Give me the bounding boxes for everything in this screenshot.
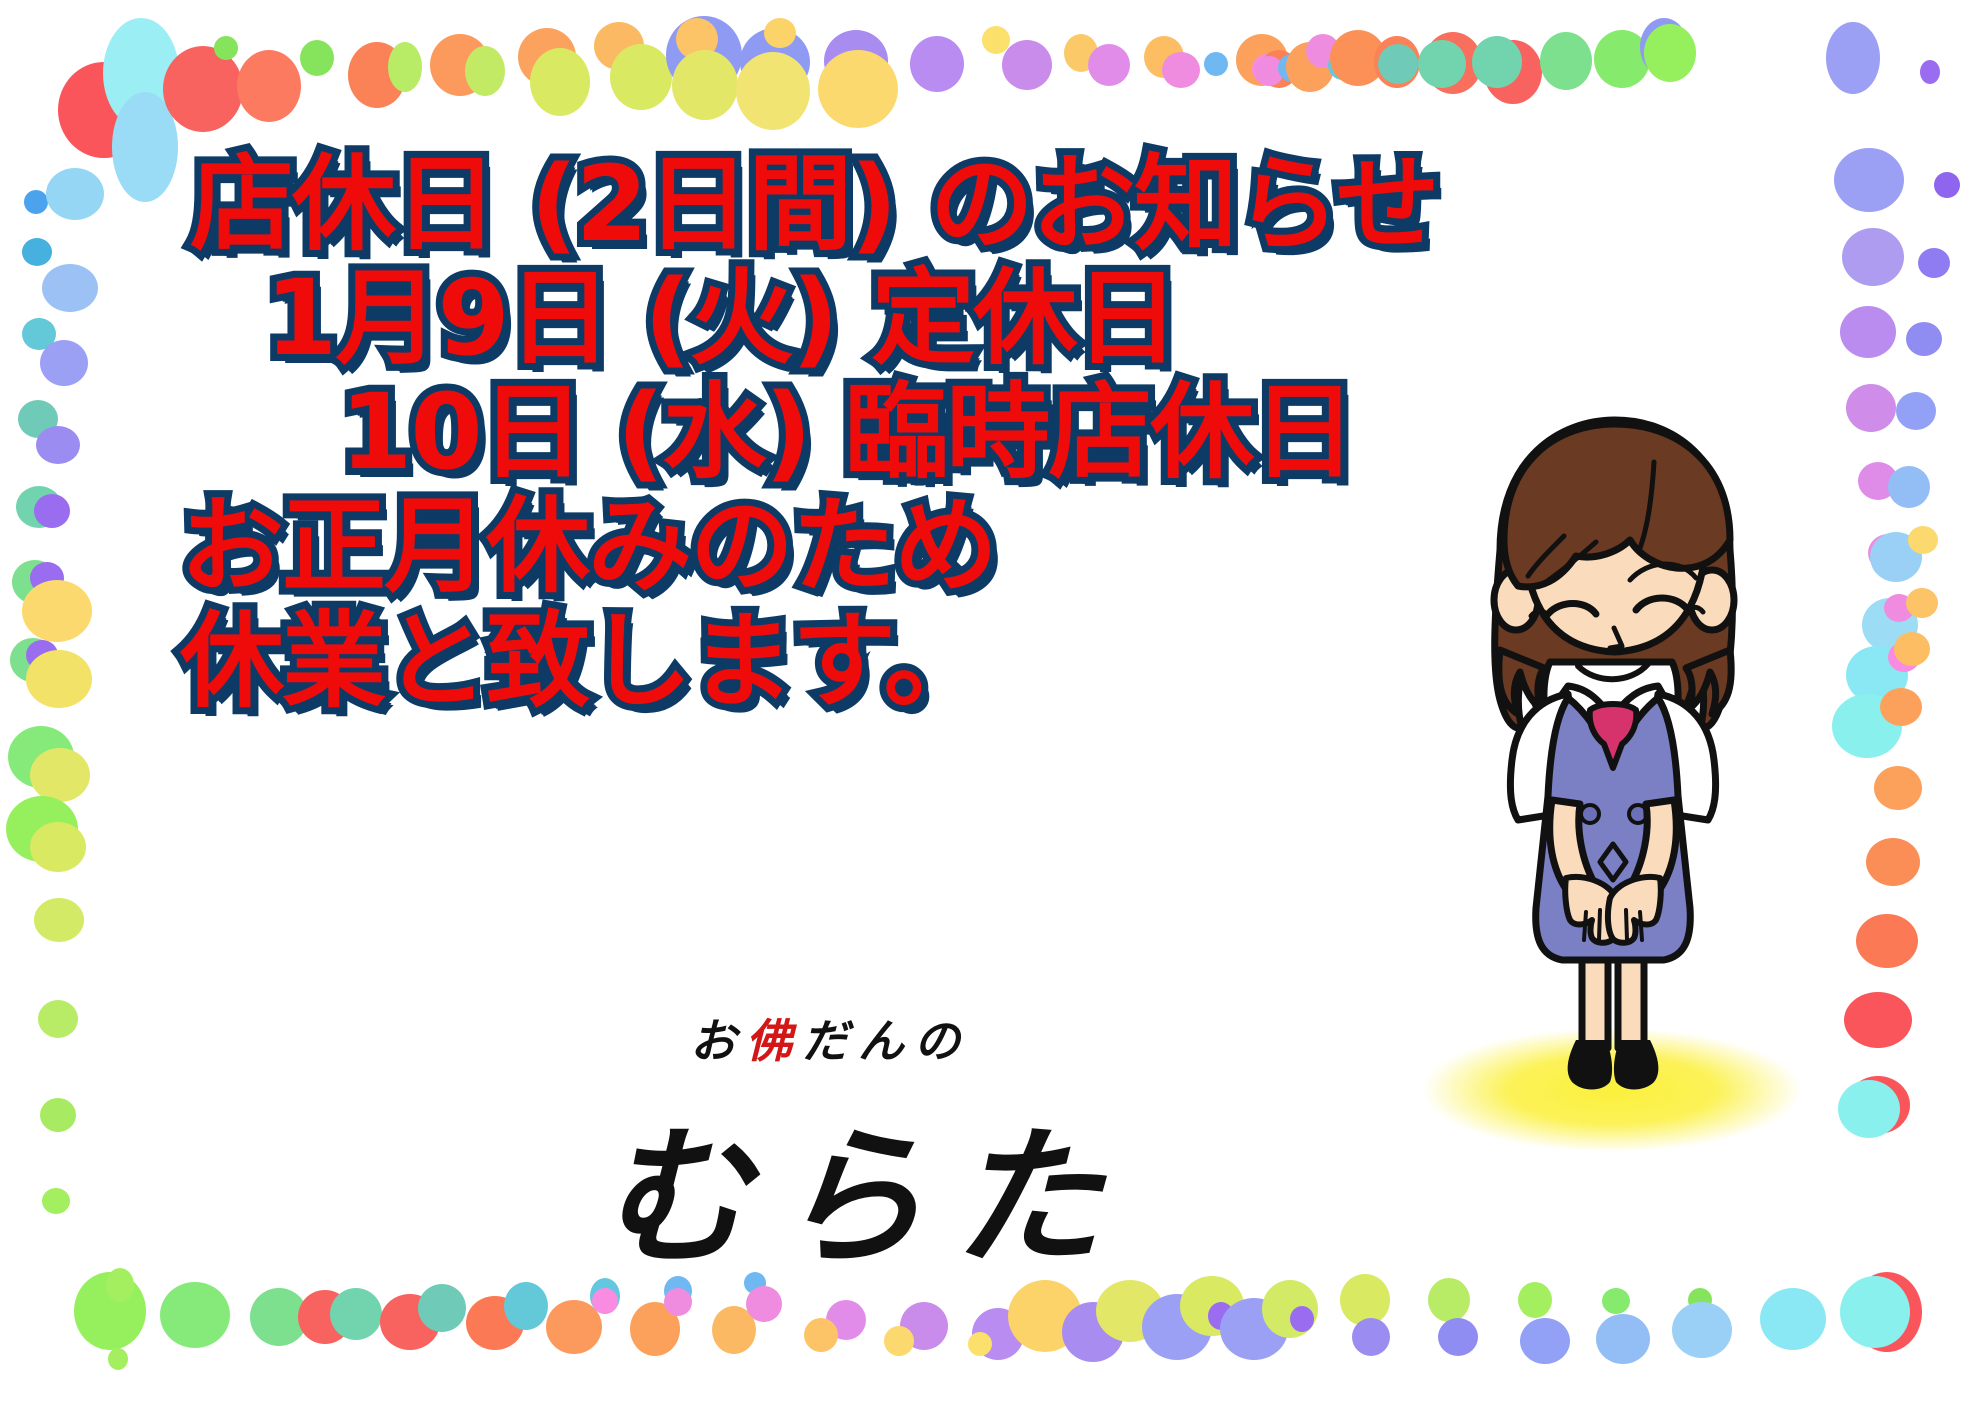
border-dot <box>330 1288 382 1340</box>
border-dot <box>1908 526 1938 554</box>
border-dot <box>34 898 84 942</box>
border-dot <box>1540 32 1592 90</box>
border-dot <box>380 1294 440 1350</box>
border-dot <box>884 1326 914 1356</box>
border-dot <box>1260 50 1298 88</box>
border-dot <box>1640 18 1688 76</box>
notice-poster: 店休日 (2日間) のお知らせ 1月9日 (火) 定休日 10日 (水) 臨時店… <box>0 0 1984 1403</box>
notice-line-5: 休業と致します。 <box>0 607 1430 715</box>
border-dot <box>1888 466 1930 508</box>
shop-logo-name: むらた <box>600 1077 1060 1294</box>
border-dot <box>1378 44 1418 84</box>
border-dot <box>1278 54 1306 82</box>
border-dot <box>465 46 505 96</box>
mouth <box>1578 664 1648 679</box>
border-dot <box>1906 588 1938 618</box>
border-dot <box>214 36 238 60</box>
border-dot <box>1306 34 1340 68</box>
border-dot <box>1352 1318 1390 1356</box>
border-dot <box>910 36 964 92</box>
border-dot <box>1856 914 1918 968</box>
border-dot <box>1896 392 1936 430</box>
border-dot <box>1844 992 1912 1048</box>
shop-logo: お佛だんの むらた <box>600 1005 1060 1294</box>
border-dot <box>518 28 576 86</box>
border-dot <box>1852 1272 1922 1352</box>
border-dot <box>1180 1276 1244 1336</box>
border-dot <box>1868 534 1908 572</box>
border-dot <box>1520 1318 1570 1364</box>
border-dot <box>900 1302 948 1350</box>
border-dot <box>1290 1306 1314 1332</box>
border-dot <box>1846 384 1896 432</box>
border-dot <box>298 1290 352 1344</box>
border-dot <box>1840 306 1896 358</box>
border-dot <box>1688 1288 1712 1312</box>
floor-glow <box>1422 1028 1802 1152</box>
shop-logo-tagline: お佛だんの <box>600 1005 1060 1071</box>
notice-line-4: お正月休みのため <box>0 492 1430 600</box>
border-dot <box>982 26 1010 54</box>
border-dot <box>826 1300 866 1340</box>
border-dot <box>1330 30 1386 86</box>
border-dot <box>1096 1280 1164 1342</box>
bowing-clerk-illustration <box>1400 400 1820 1160</box>
shoe-right <box>1614 1040 1658 1090</box>
border-dot <box>1340 1274 1390 1326</box>
border-dot <box>163 46 243 132</box>
border-dot <box>40 1098 76 1132</box>
border-dot <box>1672 1302 1732 1358</box>
border-dot <box>1162 52 1200 88</box>
border-dot <box>736 52 810 130</box>
border-dot <box>764 18 796 48</box>
border-dot <box>672 50 738 120</box>
border-dot <box>30 748 90 802</box>
border-dot <box>1884 594 1914 622</box>
border-dot <box>676 18 718 60</box>
border-dot <box>1236 34 1288 86</box>
border-dot <box>103 18 179 128</box>
border-dot <box>1220 1298 1288 1360</box>
border-dot <box>1644 24 1696 82</box>
border-dot <box>1328 50 1358 80</box>
border-dot <box>1374 36 1420 88</box>
border-dot <box>1760 1288 1826 1350</box>
leg-left <box>1582 960 1608 1048</box>
border-dot <box>1438 1318 1478 1356</box>
notice-line-3: 10日 (水) 臨時店休日 <box>0 378 1430 486</box>
border-dot <box>1064 34 1098 72</box>
border-dot <box>1838 1080 1900 1138</box>
border-dot <box>1596 1314 1650 1364</box>
border-dot <box>804 1318 838 1352</box>
border-dot <box>546 1300 602 1354</box>
border-dot <box>1204 52 1228 76</box>
border-dot <box>106 1268 134 1302</box>
border-dot <box>1870 532 1922 582</box>
border-dot <box>1906 322 1942 356</box>
border-dot <box>1826 22 1880 94</box>
border-dot <box>8 726 74 788</box>
border-dot <box>1472 36 1522 88</box>
border-dot <box>250 1288 308 1346</box>
notice-headline-block: 店休日 (2日間) のお知らせ 1月9日 (火) 定休日 10日 (水) 臨時店… <box>0 150 1430 715</box>
border-dot <box>1418 40 1466 88</box>
shop-logo-tagline-kanji: 佛 <box>746 1014 802 1068</box>
border-dot <box>1088 44 1130 86</box>
border-dot <box>1144 36 1184 78</box>
border-dot <box>237 50 301 122</box>
border-dot <box>740 28 810 96</box>
border-dot <box>968 1332 992 1356</box>
border-dot <box>504 1282 548 1330</box>
border-dot <box>530 48 590 116</box>
pinafore-button-left <box>1581 805 1599 823</box>
border-dot <box>666 16 742 94</box>
border-dot <box>824 30 888 92</box>
border-dot <box>108 1348 128 1370</box>
shop-logo-tagline-before: お <box>690 1014 746 1068</box>
border-dot <box>30 822 86 872</box>
border-dot <box>972 1308 1024 1360</box>
notice-line-2: 1月9日 (火) 定休日 <box>0 264 1430 372</box>
border-dot <box>466 1296 524 1350</box>
border-dot <box>1142 1294 1212 1360</box>
border-dot <box>1888 642 1920 672</box>
border-dot <box>1484 40 1542 104</box>
border-dot <box>1062 1302 1124 1362</box>
border-dot <box>1834 148 1904 212</box>
border-dot <box>160 1282 230 1348</box>
border-dot <box>1862 598 1918 652</box>
border-dot <box>74 1272 146 1350</box>
border-dot <box>418 1284 466 1332</box>
border-dot <box>1866 838 1920 886</box>
border-dot <box>300 40 334 76</box>
border-dot <box>1858 462 1898 500</box>
border-dot <box>610 44 672 110</box>
border-dot <box>1286 42 1334 92</box>
border-dot <box>1846 1076 1910 1134</box>
border-dot <box>1602 1288 1630 1314</box>
border-dot <box>388 42 422 92</box>
border-dot <box>1252 54 1282 84</box>
border-dot <box>1002 40 1052 90</box>
border-dot <box>1262 1280 1318 1338</box>
border-dot <box>1424 32 1482 94</box>
border-dot <box>818 50 898 128</box>
border-dot <box>1880 688 1922 726</box>
border-dot <box>1518 1282 1552 1318</box>
border-dot <box>1842 228 1904 286</box>
border-dot <box>1428 1278 1470 1322</box>
border-dot <box>1934 172 1960 198</box>
border-dot <box>38 1000 78 1038</box>
border-dot <box>1846 646 1908 704</box>
border-dot <box>1208 1302 1234 1330</box>
border-dot <box>348 42 406 108</box>
border-dot <box>594 22 644 70</box>
border-dot <box>712 1306 756 1354</box>
border-dot <box>1894 632 1930 666</box>
border-dot <box>58 62 150 158</box>
border-dot <box>1918 248 1950 278</box>
border-dot <box>630 1302 680 1356</box>
border-dot <box>1840 1276 1910 1348</box>
border-dot <box>1254 56 1284 86</box>
shoe-left <box>1568 1040 1612 1090</box>
border-dot <box>1832 694 1902 758</box>
border-dot <box>6 796 78 862</box>
border-dot <box>1874 766 1922 810</box>
border-dot <box>430 34 490 96</box>
notice-line-1: 店休日 (2日間) のお知らせ <box>0 150 1430 258</box>
border-dot <box>1920 60 1940 84</box>
shop-logo-tagline-after: だんの <box>802 1014 970 1068</box>
border-dot <box>42 1188 70 1214</box>
border-dot <box>1594 30 1650 88</box>
leg-right <box>1618 960 1644 1048</box>
